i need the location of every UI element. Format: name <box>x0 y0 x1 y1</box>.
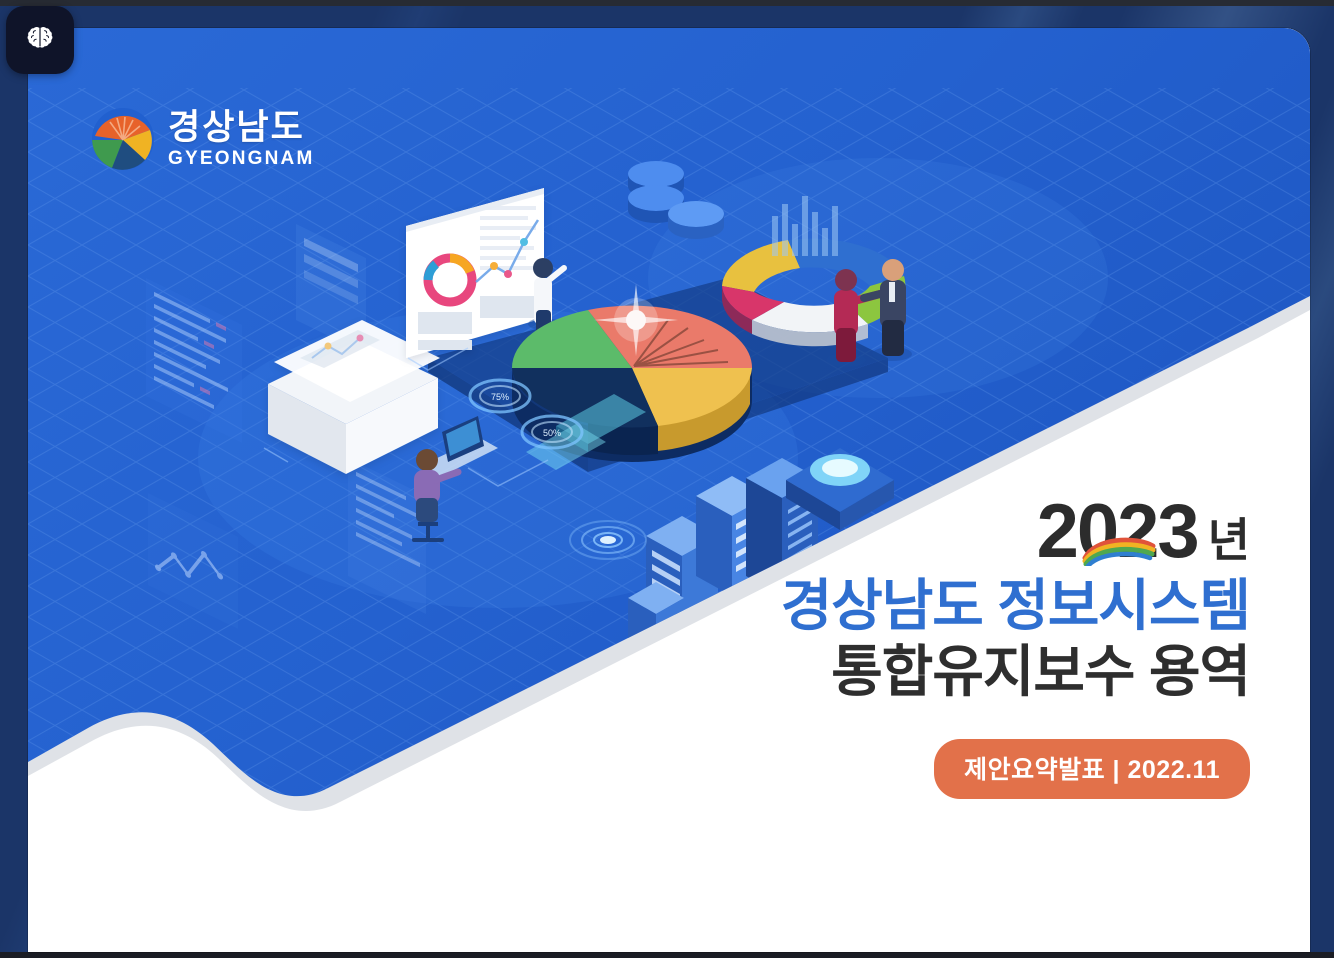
brain-icon[interactable] <box>6 6 74 74</box>
gyeongnam-logo: 경상남도 GYEONGNAM <box>90 106 314 172</box>
app-root: 75% 50% <box>0 0 1334 958</box>
date-badge: 제안요약발표 | 2022.11 <box>934 739 1250 799</box>
title-line-1: 경상남도 정보시스템 <box>630 574 1250 638</box>
logo-english-name: GYEONGNAM <box>168 149 314 168</box>
year-number-text: 2023 <box>1037 489 1198 574</box>
window-bottom-edge <box>0 952 1334 958</box>
title-line-2: 통합유지보수 용역 <box>630 639 1250 705</box>
logo-korean-name: 경상남도 <box>168 110 314 145</box>
gyeongnam-logo-text: 경상남도 GYEONGNAM <box>168 110 314 168</box>
gyeongnam-emblem-icon <box>90 106 156 172</box>
window-top-edge <box>0 0 1334 6</box>
title-block: 2023 년 경상남도 정보시스템 통합유지보수 용역 제안요약발표 | 202… <box>630 496 1250 799</box>
year-number: 2023 <box>1037 496 1198 568</box>
year-suffix: 년 <box>1208 516 1250 568</box>
year-row: 2023 년 <box>630 496 1250 568</box>
svg-text:75%: 75% <box>491 392 509 402</box>
slide-card: 75% 50% <box>28 28 1310 952</box>
svg-text:50%: 50% <box>543 428 561 438</box>
